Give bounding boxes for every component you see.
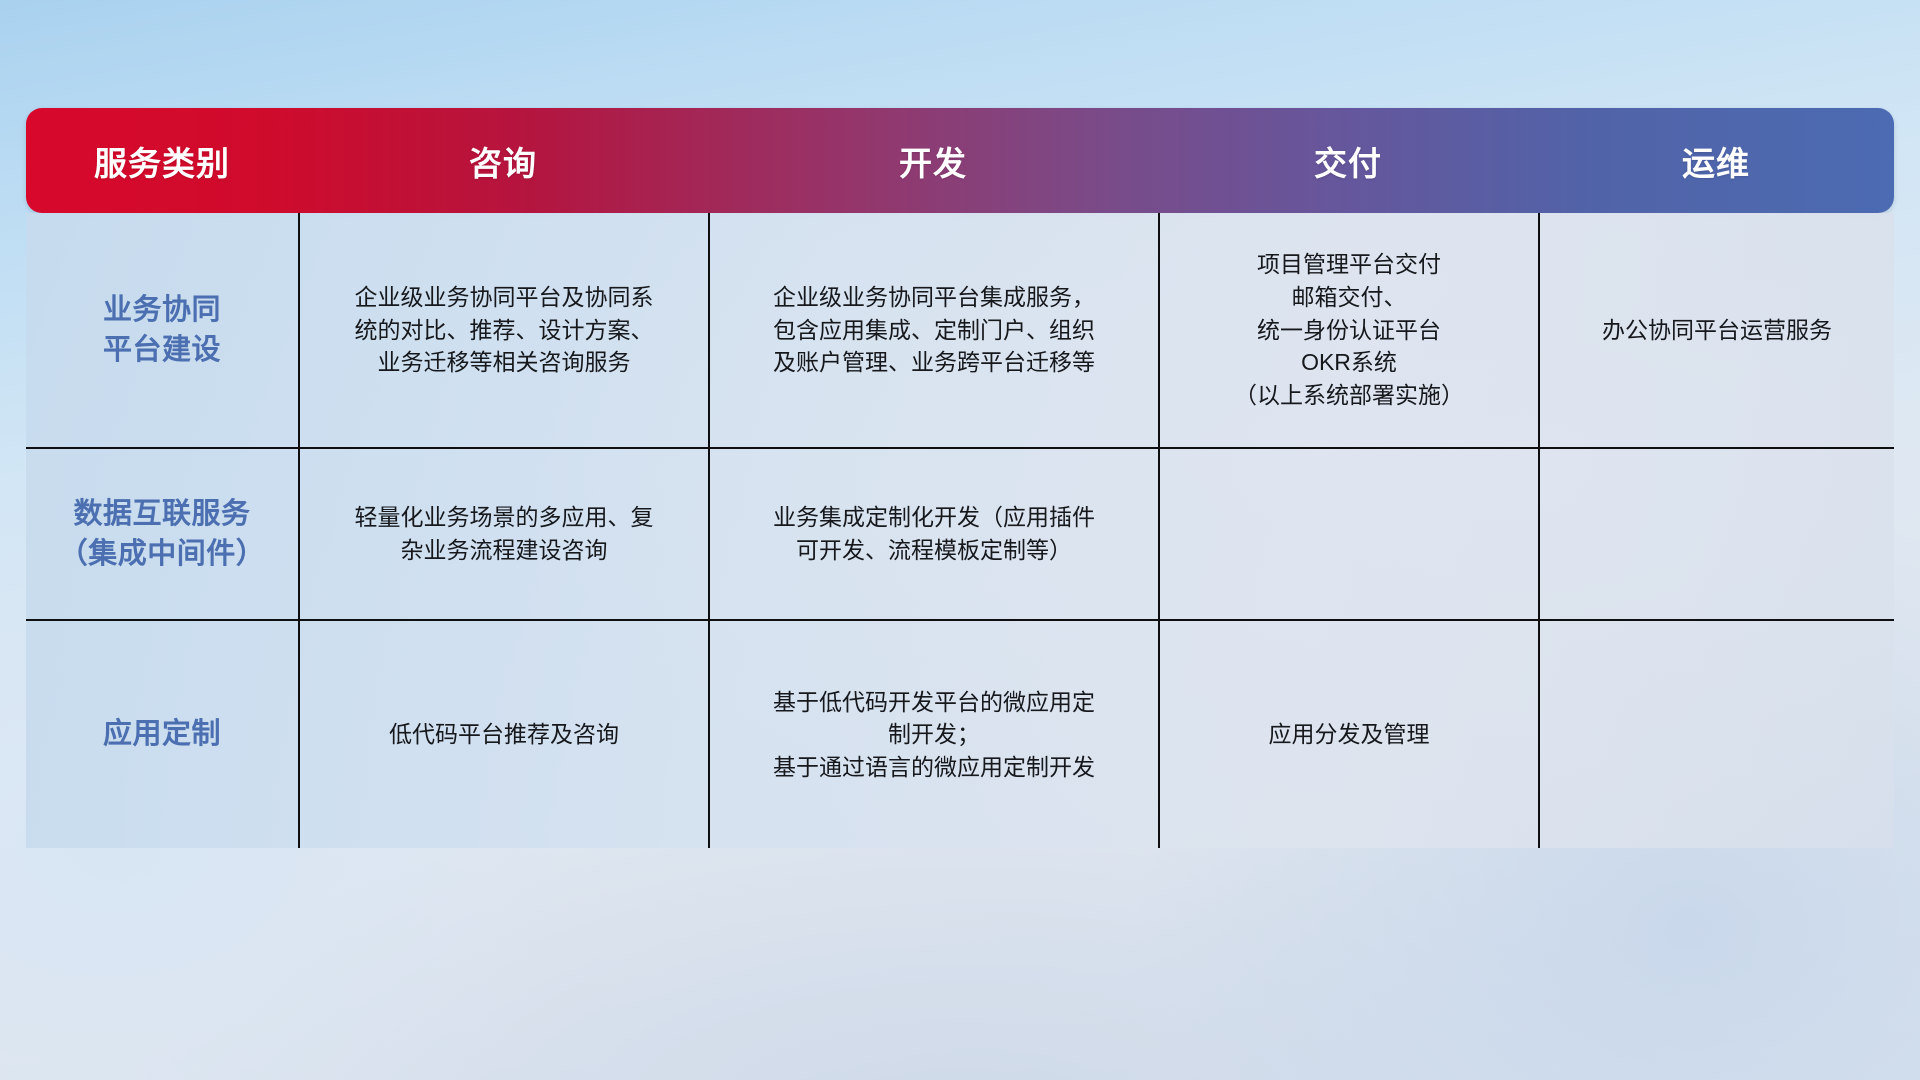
table-header-cell-development: 开发 [708,137,1158,185]
table-header-cell-consulting: 咨询 [298,137,708,185]
row-cell-delivery: 项目管理平台交付 邮箱交付、 统一身份认证平台 OKR系统 （以上系统部署实施） [1158,213,1538,447]
row-cell-delivery [1158,449,1538,619]
row-cell-consulting: 低代码平台推荐及咨询 [298,621,708,848]
table-row: 业务协同 平台建设 企业级业务协同平台及协同系 统的对比、推荐、设计方案、 业务… [26,213,1894,447]
table-row: 应用定制 低代码平台推荐及咨询 基于低代码开发平台的微应用定 制开发； 基于通过… [26,619,1894,848]
row-cell-development: 业务集成定制化开发（应用插件 可开发、流程模板定制等） [708,449,1158,619]
row-cell-operations: 办公协同平台运营服务 [1538,213,1894,447]
row-cell-delivery: 应用分发及管理 [1158,621,1538,848]
row-cell-operations [1538,449,1894,619]
row-cell-development: 企业级业务协同平台集成服务， 包含应用集成、定制门户、组织 及账户管理、业务跨平… [708,213,1158,447]
row-label-business-collaboration-platform: 业务协同 平台建设 [26,213,298,447]
table-header-cell-delivery: 交付 [1158,137,1538,185]
table-header-cell-operations: 运维 [1538,137,1894,185]
table-body: 业务协同 平台建设 企业级业务协同平台及协同系 统的对比、推荐、设计方案、 业务… [26,213,1894,848]
table-header-row: 服务类别 咨询 开发 交付 运维 [26,108,1894,213]
table-row: 数据互联服务 （集成中间件） 轻量化业务场景的多应用、复 杂业务流程建设咨询 业… [26,447,1894,619]
row-label-data-interconnect-service: 数据互联服务 （集成中间件） [26,449,298,619]
row-label-application-customization: 应用定制 [26,621,298,848]
table-header-cell-service-category: 服务类别 [26,137,298,185]
row-cell-development: 基于低代码开发平台的微应用定 制开发； 基于通过语言的微应用定制开发 [708,621,1158,848]
service-matrix-table: 服务类别 咨询 开发 交付 运维 业务协同 平台建设 企业级业务协同平台及协同系… [26,108,1894,788]
row-cell-consulting: 轻量化业务场景的多应用、复 杂业务流程建设咨询 [298,449,708,619]
row-cell-consulting: 企业级业务协同平台及协同系 统的对比、推荐、设计方案、 业务迁移等相关咨询服务 [298,213,708,447]
row-cell-operations [1538,621,1894,848]
